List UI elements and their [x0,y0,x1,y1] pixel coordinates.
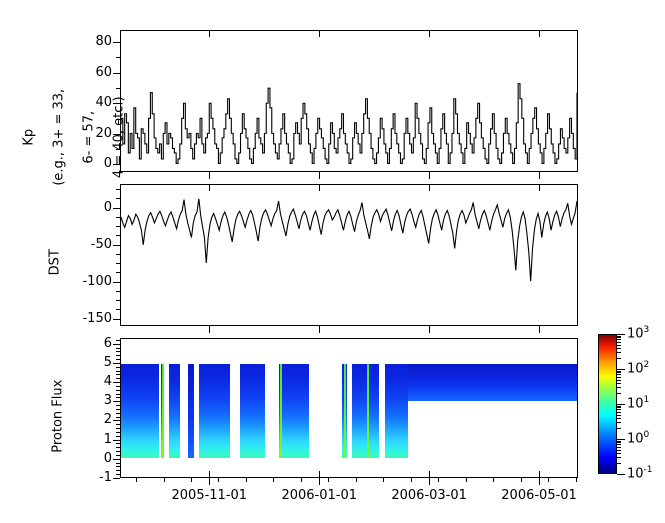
tick-mark [116,397,120,398]
flux-ytick-label: 6 [60,336,112,351]
tick-mark [429,184,430,191]
kp-ytick-label: 60 [60,65,112,80]
tick-mark [113,42,120,43]
tick-mark [116,428,120,429]
tick-mark [116,455,120,456]
tick-mark [617,409,621,410]
proton-flux-bands [121,339,577,477]
colorbar-mantissa: 10 [627,396,644,411]
tick-mark [113,73,120,74]
dst-panel [120,184,578,326]
flux-ytick-label: 5 [60,355,112,370]
tick-mark [617,383,621,384]
colorbar-mantissa: 10 [627,361,644,376]
tick-mark [617,418,621,419]
kp-ytick-label: 20 [60,126,112,141]
tick-mark [113,103,120,104]
kp-label-line-1: Kp [22,129,37,146]
flux-ytick-label: 0 [60,451,112,466]
colorbar-tick-label: 102 [627,360,649,376]
tick-mark [617,337,621,338]
tick-mark [617,377,621,378]
colorbar-tick-label: 101 [627,395,649,411]
tick-mark [136,478,137,482]
tick-mark [319,30,320,37]
flux-band [352,364,378,459]
tick-mark [617,406,621,407]
colorbar-tick-label: 100 [627,430,649,446]
kp-panel [120,30,578,172]
dst-ytick-label: 0 [60,200,112,215]
tick-mark [319,478,320,485]
x-tick-label: 2006-05-01 [484,488,594,503]
tick-mark [301,478,302,482]
tick-mark [617,444,621,445]
tick-mark [319,184,320,191]
tick-mark [116,459,120,460]
tick-mark [617,453,621,454]
tick-mark [617,342,621,343]
tick-mark [617,474,625,475]
tick-mark [116,436,120,437]
tick-mark [617,334,625,335]
tick-mark [116,359,120,360]
flux-bright-stripe [280,364,282,459]
tick-mark [116,371,120,372]
tick-mark [116,254,120,255]
tick-mark [617,442,621,443]
tick-mark [116,451,120,452]
tick-mark [617,352,621,353]
tick-mark [116,470,120,471]
flux-band [385,364,408,459]
x-tick-label: 2005-11-01 [154,488,264,503]
tick-mark [113,282,120,283]
tick-mark [617,450,621,451]
colorbar-mantissa: 10 [627,326,644,341]
tick-mark [218,478,219,482]
tick-mark [617,407,621,408]
tick-mark [539,326,540,333]
tick-mark [116,348,120,349]
colorbar-exponent: 1 [644,395,650,405]
tick-mark [116,119,120,120]
tick-mark [116,88,120,89]
tick-mark [466,478,467,482]
tick-mark [116,401,120,402]
tick-mark [116,390,120,391]
tick-mark [116,340,120,341]
tick-mark [116,344,120,345]
tick-mark [191,478,192,482]
tick-mark [116,378,120,379]
tick-mark [116,424,120,425]
x-tick-label: 2006-03-01 [374,488,484,503]
tick-mark [113,164,120,165]
kp-ytick-label: 0 [60,156,112,171]
tick-mark [116,417,120,418]
tick-mark [319,326,320,333]
proton-flux-panel [120,338,578,478]
tick-mark [429,30,430,37]
tick-mark [209,30,210,37]
tick-mark [429,478,430,485]
flux-ytick-label: 2 [60,412,112,427]
tick-mark [113,208,120,209]
tick-mark [113,319,120,320]
tick-mark [319,172,320,179]
tick-mark [617,339,621,340]
tick-mark [116,198,120,199]
tick-mark [116,432,120,433]
tick-mark [116,149,120,150]
kp-series-line [121,31,577,171]
kp-line-path [121,84,577,164]
tick-mark [116,447,120,448]
tick-mark [617,428,621,429]
tick-mark [617,345,621,346]
tick-mark [576,478,577,482]
flux-band [240,364,265,459]
colorbar-exponent: 0 [644,430,650,440]
tick-mark [328,478,329,482]
tick-mark [209,478,210,485]
tick-mark [116,478,120,479]
tick-mark [383,478,384,482]
tick-mark [116,386,120,387]
figure-canvas: Kp (e.g., 3+ = 33, 6- = 57, 4 = 40, etc.… [0,0,665,523]
tick-mark [617,348,621,349]
colorbar-tick-label: 103 [627,325,649,341]
flux-band [188,364,195,459]
colorbar-exponent: 2 [644,360,650,370]
dst-label-line-1: DST [48,249,63,275]
tick-mark [617,447,621,448]
colorbar-mantissa: 10 [627,431,644,446]
tick-mark [116,300,120,301]
tick-mark [617,358,621,359]
tick-mark [116,382,120,383]
tick-mark [539,184,540,191]
tick-mark [116,413,120,414]
tick-mark [116,355,120,356]
flux-band [199,364,230,459]
tick-mark [209,471,210,478]
tick-mark [116,409,120,410]
dst-line-path [121,199,577,281]
tick-mark [617,412,621,413]
colorbar-gradient [598,334,617,474]
flux-ytick-label: 4 [60,374,112,389]
tick-mark [116,309,120,310]
dst-ytick-label: -150 [60,311,112,326]
tick-mark [438,478,439,482]
tick-mark [209,172,210,179]
tick-mark [113,134,120,135]
flux-bright-stripe [344,364,346,459]
tick-mark [429,326,430,333]
tick-mark [116,291,120,292]
tick-mark [617,439,625,440]
tick-mark [319,471,320,478]
tick-mark [617,415,621,416]
flux-bright-stripe [367,364,369,459]
tick-mark [539,471,540,478]
tick-mark [209,326,210,333]
kp-label-line-4: 4 = 40, etc.) [112,96,127,178]
tick-mark [116,443,120,444]
flux-band [121,364,159,459]
tick-mark [113,245,120,246]
tick-mark [116,235,120,236]
flux-ytick-label: -1 [60,470,112,485]
tick-mark [617,372,621,373]
tick-mark [164,478,165,482]
tick-mark [116,217,120,218]
kp-ytick-label: 80 [60,34,112,49]
flux-band [408,364,577,402]
tick-mark [617,457,621,458]
tick-mark [116,466,120,467]
tick-mark [246,478,247,482]
tick-mark [617,374,621,375]
tick-mark [617,404,625,405]
colorbar-mantissa: 10 [627,466,644,481]
colorbar-tick-label: 10-1 [627,465,653,481]
tick-mark [116,226,120,227]
tick-mark [116,351,120,352]
tick-mark [116,405,120,406]
tick-mark [617,336,621,337]
tick-mark [539,172,540,179]
colorbar-exponent: -1 [644,465,653,475]
tick-mark [273,478,274,482]
tick-mark [116,367,120,368]
tick-mark [617,380,621,381]
colorbar-exponent: 3 [644,325,650,335]
tick-mark [116,440,120,441]
tick-mark [429,471,430,478]
tick-mark [116,363,120,364]
x-tick-label: 2006-01-01 [264,488,374,503]
tick-mark [617,422,621,423]
tick-mark [617,441,621,442]
dst-series-line [121,185,577,325]
tick-mark [548,478,549,482]
flux-bright-stripe [162,364,164,459]
dst-ytick-label: -50 [60,237,112,252]
tick-mark [116,394,120,395]
tick-mark [617,369,625,370]
tick-mark [116,474,120,475]
dst-ytick-label: -100 [60,274,112,289]
tick-mark [617,371,621,372]
kp-ytick-label: 40 [60,95,112,110]
tick-mark [617,463,621,464]
tick-mark [116,263,120,264]
tick-mark [493,478,494,482]
tick-mark [116,189,120,190]
tick-mark [116,272,120,273]
flux-ytick-label: 3 [60,393,112,408]
tick-mark [539,478,540,485]
flux-band [279,364,310,459]
tick-mark [356,478,357,482]
flux-band [169,364,180,459]
tick-mark [429,172,430,179]
tick-mark [617,393,621,394]
tick-mark [209,184,210,191]
tick-mark [617,387,621,388]
tick-mark [116,374,120,375]
tick-mark [539,30,540,37]
tick-mark [116,57,120,58]
tick-mark [116,420,120,421]
tick-mark [116,463,120,464]
tick-mark [521,478,522,482]
flux-ytick-label: 1 [60,432,112,447]
tick-mark [411,478,412,482]
